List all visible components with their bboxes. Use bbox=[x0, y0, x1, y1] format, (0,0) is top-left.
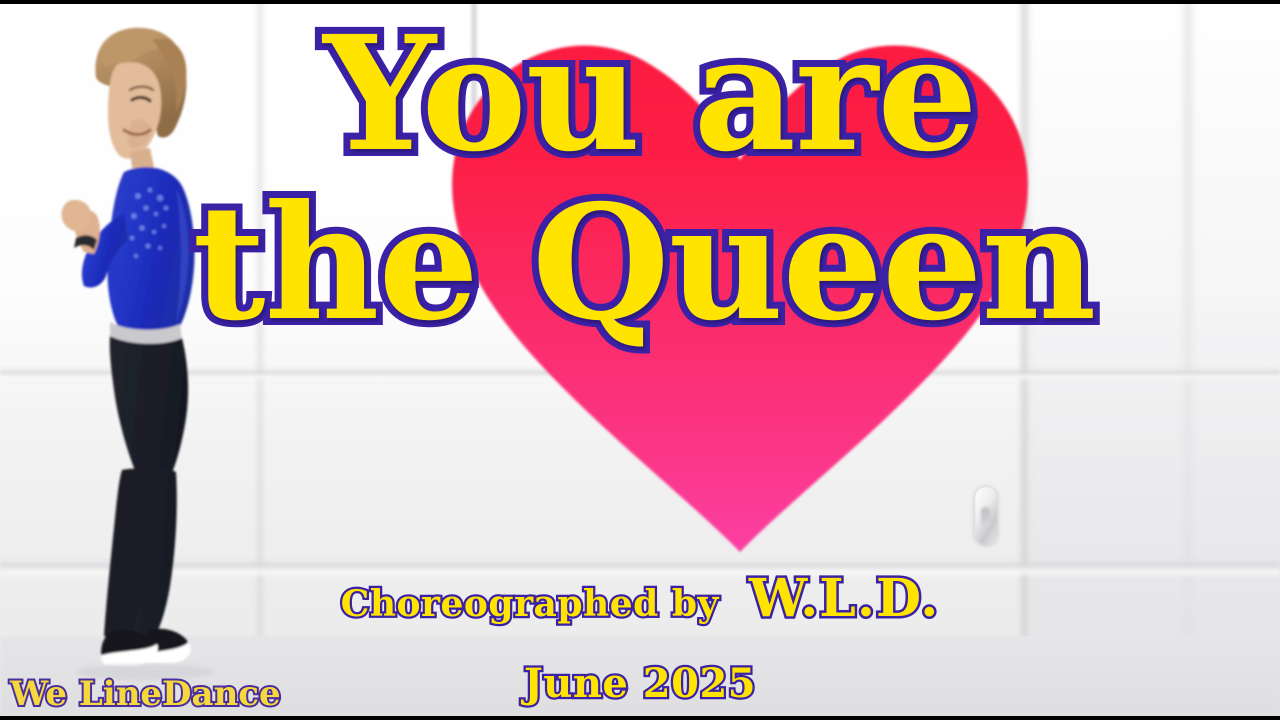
channel-watermark-text: We LineDance bbox=[10, 674, 281, 714]
letterbox-bar-bottom bbox=[0, 716, 1280, 720]
dancer-figure bbox=[0, 0, 290, 700]
channel-watermark: We LineDance bbox=[10, 674, 281, 714]
letterbox-bar-top bbox=[0, 0, 1280, 4]
heart-graphic bbox=[430, 4, 1050, 564]
video-thumbnail: You are the Queen Choreographed byW.L.D.… bbox=[0, 0, 1280, 720]
